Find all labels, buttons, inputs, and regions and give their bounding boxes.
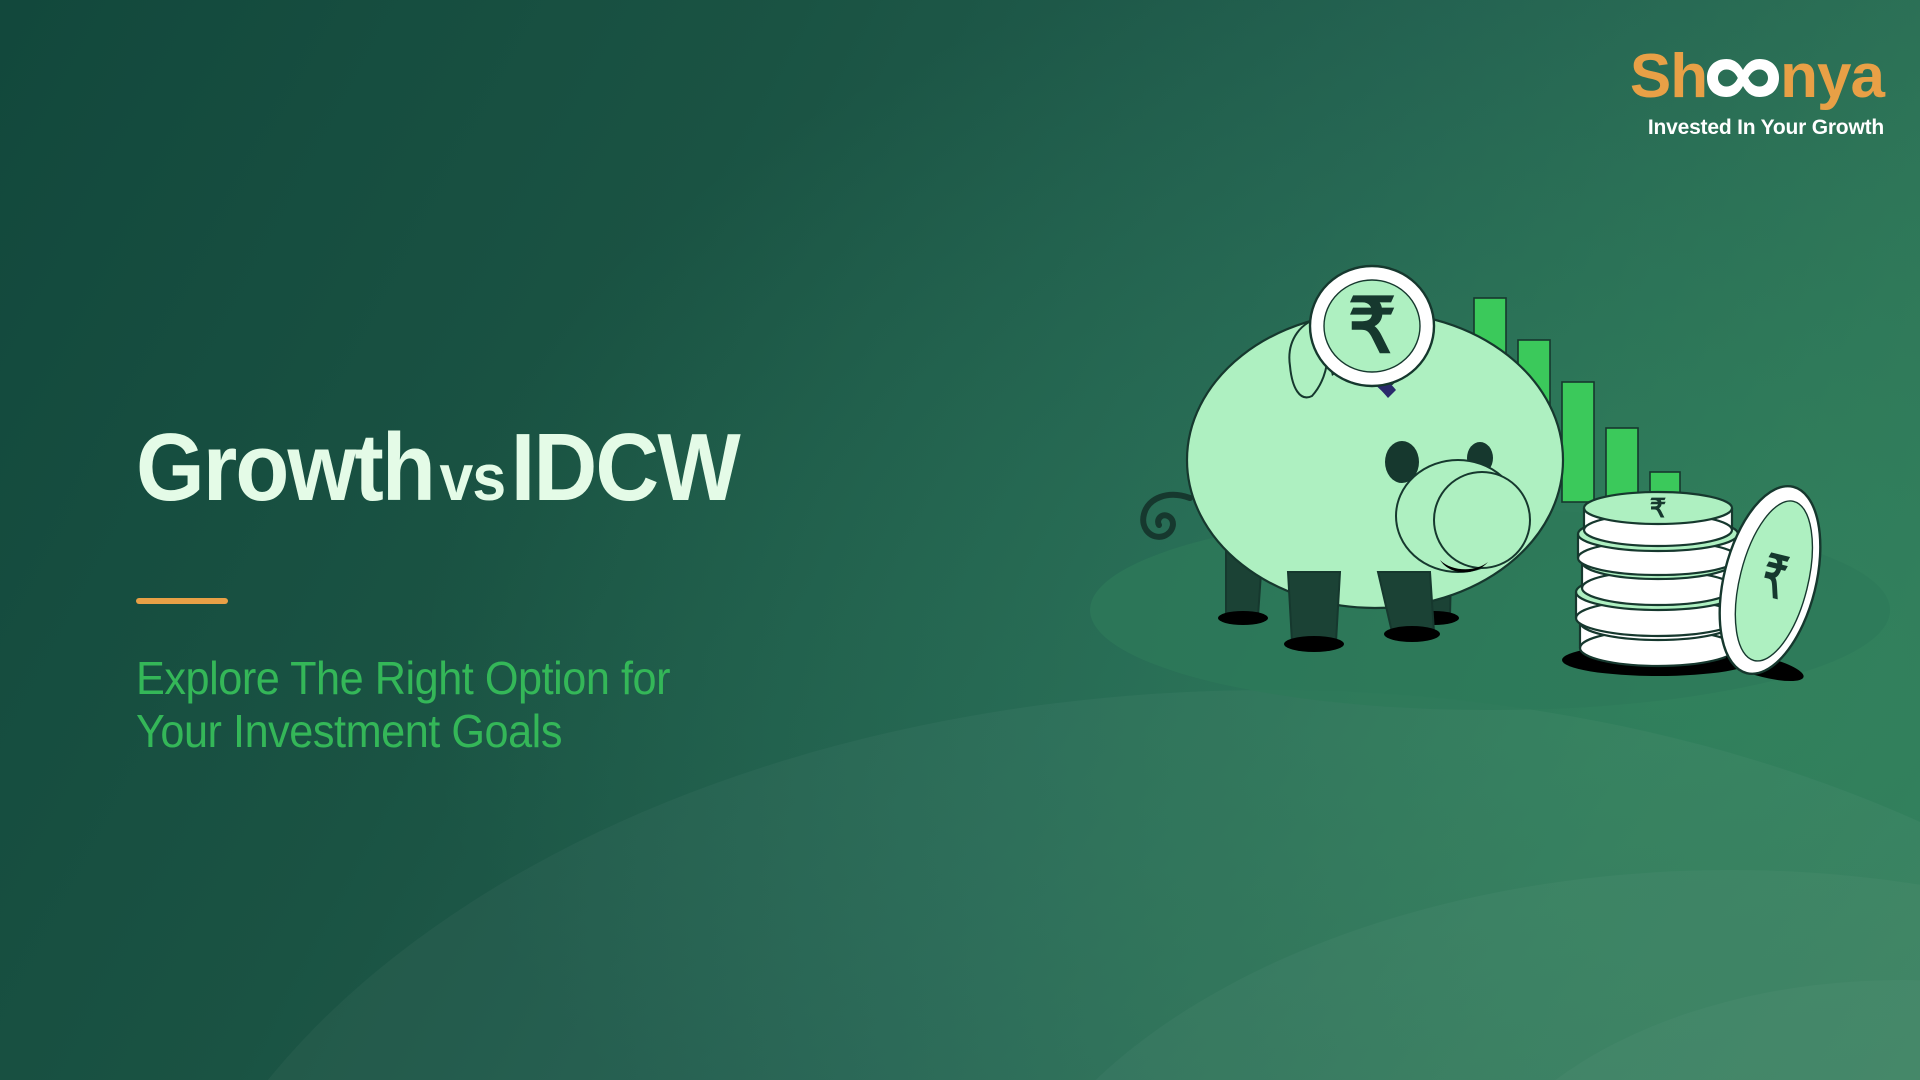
coin-stack-disc-1-top: ₹ bbox=[1584, 492, 1732, 546]
page-title: GrowthvsIDCW bbox=[136, 420, 909, 516]
background-arc-medium bbox=[980, 870, 1920, 1080]
piggy-bank-illustration: ₹ bbox=[1040, 280, 1920, 700]
hero-text-block: GrowthvsIDCW Explore The Right Option fo… bbox=[136, 420, 976, 758]
page-subtitle: Explore The Right Option for Your Invest… bbox=[136, 652, 926, 758]
title-idcw: IDCW bbox=[511, 414, 739, 521]
logo-wordmark: Sh nya bbox=[1630, 46, 1884, 108]
logo-text-nya: nya bbox=[1780, 46, 1884, 108]
leg-shadow-back-left bbox=[1218, 611, 1268, 625]
piggy-tail bbox=[1143, 495, 1190, 537]
rupee-symbol-stack-top: ₹ bbox=[1650, 493, 1667, 523]
hero-banner: Sh nya Invested In Your Growth GrowthvsI… bbox=[0, 0, 1920, 1080]
bar-3 bbox=[1562, 382, 1594, 502]
rupee-symbol-coin: ₹ bbox=[1348, 284, 1396, 369]
subtitle-line-1: Explore The Right Option for bbox=[136, 652, 670, 704]
title-growth: Growth bbox=[136, 414, 434, 521]
title-vs: vs bbox=[434, 440, 511, 514]
leg-shadow-front-left bbox=[1284, 636, 1344, 652]
accent-divider bbox=[136, 598, 228, 604]
background-arc-small bbox=[1450, 980, 1920, 1080]
subtitle-line-2: Your Investment Goals bbox=[136, 705, 562, 757]
leg-front-left bbox=[1288, 572, 1340, 642]
logo-tagline: Invested In Your Growth bbox=[1630, 116, 1884, 140]
leg-shadow-front-right bbox=[1384, 626, 1440, 642]
infinity-icon bbox=[1704, 50, 1782, 112]
brand-logo[interactable]: Sh nya Invested In Your Growth bbox=[1630, 46, 1884, 140]
piggy-snout-front bbox=[1434, 472, 1530, 568]
logo-text-sh: Sh bbox=[1630, 46, 1707, 108]
